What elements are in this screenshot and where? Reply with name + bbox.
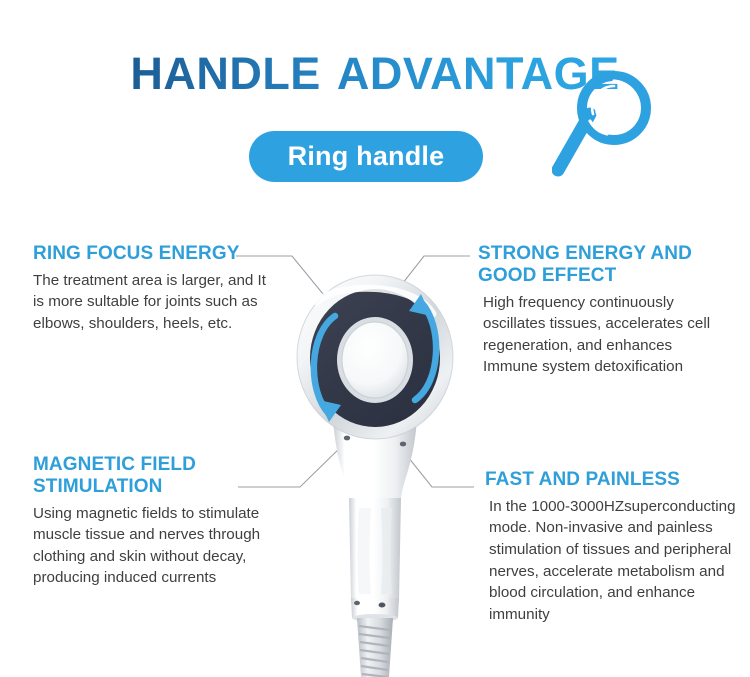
- device-screw-1: [344, 436, 350, 441]
- device-cable: [357, 618, 393, 677]
- page-title-part1: HANDLE: [130, 48, 321, 99]
- feature-magnetic-field-stimulation: MAGNETIC FIELD STIMULATION Using magneti…: [33, 454, 291, 589]
- ring-handle-badge[interactable]: Ring handle: [249, 131, 483, 182]
- feature-heading: FAST AND PAINLESS: [485, 469, 737, 491]
- feature-heading: STRONG ENERGY AND GOOD EFFECT: [478, 243, 730, 287]
- device-screw-4: [379, 603, 386, 608]
- device-grip-inlay-right: [381, 508, 392, 594]
- feature-heading: MAGNETIC FIELD STIMULATION: [33, 454, 291, 498]
- feature-strong-energy-and-good-effect: STRONG ENERGY AND GOOD EFFECT High frequ…: [478, 243, 730, 378]
- feature-body: In the 1000-3000HZsuperconducting mode. …: [485, 496, 737, 625]
- feature-fast-and-painless: FAST AND PAINLESS In the 1000-3000HZsupe…: [485, 469, 737, 625]
- feature-ring-focus-energy: RING FOCUS ENERGY The treatment area is …: [33, 243, 281, 335]
- device-screw-3: [354, 601, 360, 605]
- feature-body: Using magnetic fields to stimulate muscl…: [33, 503, 291, 589]
- feature-heading: RING FOCUS ENERGY: [33, 243, 281, 265]
- handle-advantage-infographic: HANDLEADVANTAGE Ring handle: [0, 0, 750, 677]
- feature-body: The treatment area is larger, and It is …: [33, 270, 281, 335]
- feature-body: High frequency continuously oscillates t…: [478, 292, 730, 378]
- device-grip: [349, 498, 401, 602]
- device-screw-2: [400, 442, 406, 447]
- ring-handle-device: [275, 272, 475, 677]
- device-grip-inlay-left: [358, 508, 372, 594]
- ring-handle-icon: [552, 66, 664, 178]
- ring-handle-badge-label: Ring handle: [288, 141, 445, 172]
